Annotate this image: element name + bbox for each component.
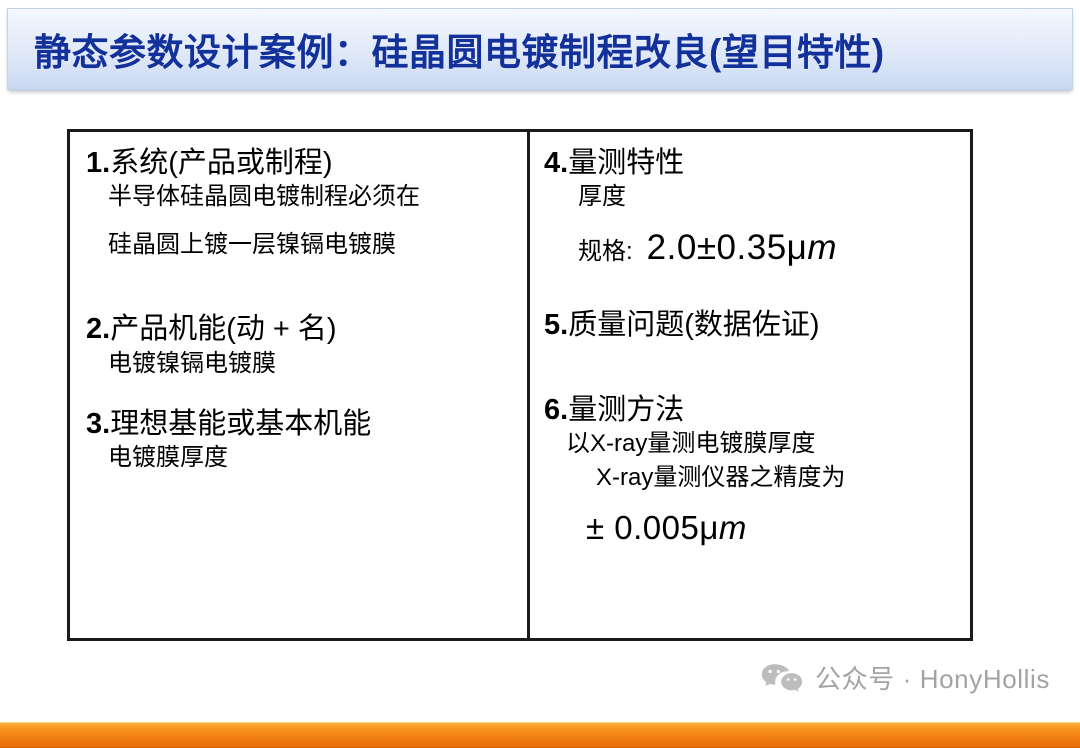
list-item-5: 5.质量问题(数据佐证) xyxy=(544,308,958,342)
item-5-heading: 5.质量问题(数据佐证) xyxy=(544,308,958,342)
item-6-heading: 6.量测方法 xyxy=(544,393,958,427)
item-4-spec-unit-m: m xyxy=(807,228,837,267)
item-3-heading: 3.理想基能或基本机能 xyxy=(86,407,515,441)
bottom-accent-bar xyxy=(0,722,1080,748)
item-3-line-1: 电镀膜厚度 xyxy=(86,441,515,475)
item-4-spec-number: 2.0±0.35μ xyxy=(647,228,808,267)
item-2-heading-text: 产品机能(动 + 名) xyxy=(110,313,336,345)
item-5-heading-text: 质量问题(数据佐证) xyxy=(568,309,819,341)
item-6-line-1: 以X-ray量测电镀膜厚度 xyxy=(544,427,958,461)
spacer xyxy=(86,214,515,228)
item-6-line-2: X-ray量测仪器之精度为 xyxy=(544,461,958,495)
item-6-measure-unit-m: m xyxy=(719,509,747,546)
slide-root: 静态参数设计案例：硅晶圆电镀制程改良(望目特性) 1.系统(产品或制程) 半导体… xyxy=(0,0,1080,748)
list-item-3: 3.理想基能或基本机能 电镀膜厚度 xyxy=(86,407,515,475)
item-1-heading-text: 系统(产品或制程) xyxy=(110,147,332,179)
item-6-measure-number: ± 0.005μ xyxy=(586,509,719,546)
spacer xyxy=(544,343,958,393)
slide-title-banner: 静态参数设计案例：硅晶圆电镀制程改良(望目特性) xyxy=(7,8,1073,90)
wechat-label: 公众号 · HonyHollis xyxy=(815,659,1050,696)
left-column: 1.系统(产品或制程) 半导体硅晶圆电镀制程必须在 硅晶圆上镀一层镍镉电镀膜 2… xyxy=(70,132,527,638)
spacer xyxy=(86,381,515,407)
item-1-line-1: 半导体硅晶圆电镀制程必须在 xyxy=(86,180,515,214)
item-6-measure: ± 0.005μm xyxy=(544,509,958,547)
spacer xyxy=(86,262,515,312)
item-3-number: 3. xyxy=(86,408,110,440)
spacer xyxy=(544,268,958,308)
item-5-number: 5. xyxy=(544,309,568,341)
item-1-number: 1. xyxy=(86,147,110,179)
list-item-2: 2.产品机能(动 + 名) 电镀镍镉电镀膜 xyxy=(86,312,515,380)
item-4-heading-text: 量测特性 xyxy=(568,147,684,179)
wechat-watermark: 公众号 · HonyHollis xyxy=(761,659,1050,696)
list-item-4: 4.量测特性 厚度 规格: 2.0±0.35μm xyxy=(544,146,958,268)
right-column: 4.量测特性 厚度 规格: 2.0±0.35μm 5.质量问题(数据佐证) 6.… xyxy=(527,132,970,638)
item-4-spec: 规格: 2.0±0.35μm xyxy=(544,228,958,268)
item-6-heading-text: 量测方法 xyxy=(568,394,684,426)
list-item-6: 6.量测方法 以X-ray量测电镀膜厚度 X-ray量测仪器之精度为 ± 0.0… xyxy=(544,393,958,547)
content-box: 1.系统(产品或制程) 半导体硅晶圆电镀制程必须在 硅晶圆上镀一层镍镉电镀膜 2… xyxy=(67,129,973,641)
spacer xyxy=(544,214,958,228)
list-item-1: 1.系统(产品或制程) 半导体硅晶圆电镀制程必须在 硅晶圆上镀一层镍镉电镀膜 xyxy=(86,146,515,262)
item-4-spec-value: 2.0±0.35μm xyxy=(647,228,837,268)
page-title: 静态参数设计案例：硅晶圆电镀制程改良(望目特性) xyxy=(34,22,885,76)
item-2-number: 2. xyxy=(86,313,110,345)
item-3-heading-text: 理想基能或基本机能 xyxy=(110,408,371,440)
item-1-line-2: 硅晶圆上镀一层镍镉电镀膜 xyxy=(86,228,515,262)
item-4-heading: 4.量测特性 xyxy=(544,146,958,180)
wechat-icon xyxy=(761,663,803,693)
item-4-number: 4. xyxy=(544,147,568,179)
item-2-heading: 2.产品机能(动 + 名) xyxy=(86,312,515,346)
item-2-line-1: 电镀镍镉电镀膜 xyxy=(86,347,515,381)
item-6-number: 6. xyxy=(544,394,568,426)
item-1-heading: 1.系统(产品或制程) xyxy=(86,146,515,180)
spacer xyxy=(544,495,958,509)
item-4-spec-label: 规格: xyxy=(578,231,633,266)
item-4-line-1: 厚度 xyxy=(544,180,958,214)
